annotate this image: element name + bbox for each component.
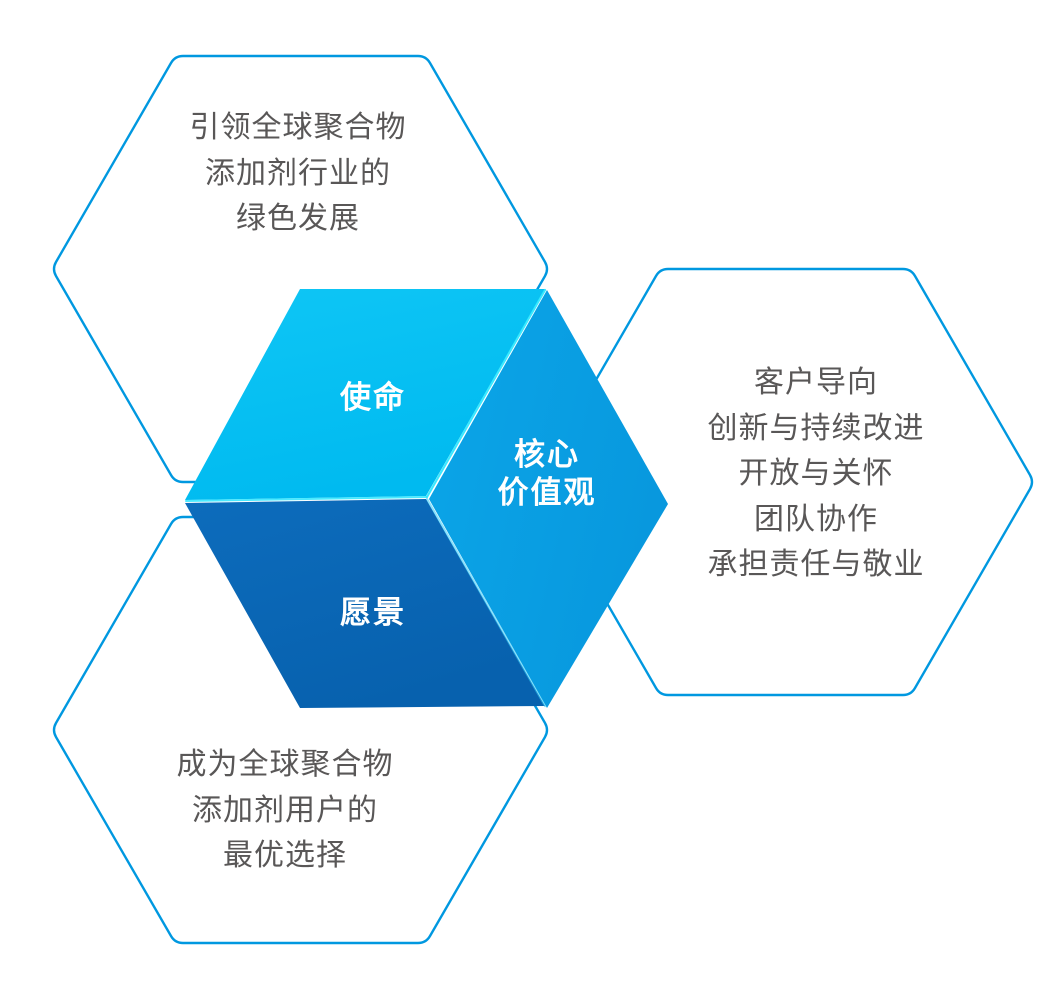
core-values-item-4: 团队协作 bbox=[620, 497, 1012, 543]
core-values-item-2: 创新与持续改进 bbox=[620, 406, 1012, 452]
cube-label-vision: 愿景 bbox=[278, 594, 468, 632]
core-values-item-5: 承担责任与敬业 bbox=[620, 542, 1012, 588]
vision-statement-line-3: 最优选择 bbox=[117, 833, 453, 879]
mission-statement-line-1: 引领全球聚合物 bbox=[130, 105, 466, 151]
diagram-canvas: 引领全球聚合物 添加剂行业的 绿色发展 客户导向 创新与持续改进 开放与关怀 团… bbox=[0, 0, 1044, 997]
cube-label-core-values-line-2: 价值观 bbox=[452, 474, 642, 512]
core-values-list-text: 客户导向 创新与持续改进 开放与关怀 团队协作 承担责任与敬业 bbox=[620, 360, 1012, 588]
cube-label-mission-line-1: 使命 bbox=[278, 379, 468, 417]
mission-statement-line-2: 添加剂行业的 bbox=[130, 151, 466, 197]
mission-statement-text: 引领全球聚合物 添加剂行业的 绿色发展 bbox=[130, 105, 466, 242]
vision-statement-line-1: 成为全球聚合物 bbox=[117, 742, 453, 788]
cube-label-vision-line-1: 愿景 bbox=[278, 594, 468, 632]
core-values-item-1: 客户导向 bbox=[620, 360, 1012, 406]
cube-label-core-values-line-1: 核心 bbox=[452, 436, 642, 474]
vision-statement-line-2: 添加剂用户的 bbox=[117, 788, 453, 834]
cube-label-mission: 使命 bbox=[278, 379, 468, 417]
cube-label-core-values: 核心 价值观 bbox=[452, 436, 642, 512]
vision-statement-text: 成为全球聚合物 添加剂用户的 最优选择 bbox=[117, 742, 453, 879]
core-values-item-3: 开放与关怀 bbox=[620, 451, 1012, 497]
mission-statement-line-3: 绿色发展 bbox=[130, 196, 466, 242]
